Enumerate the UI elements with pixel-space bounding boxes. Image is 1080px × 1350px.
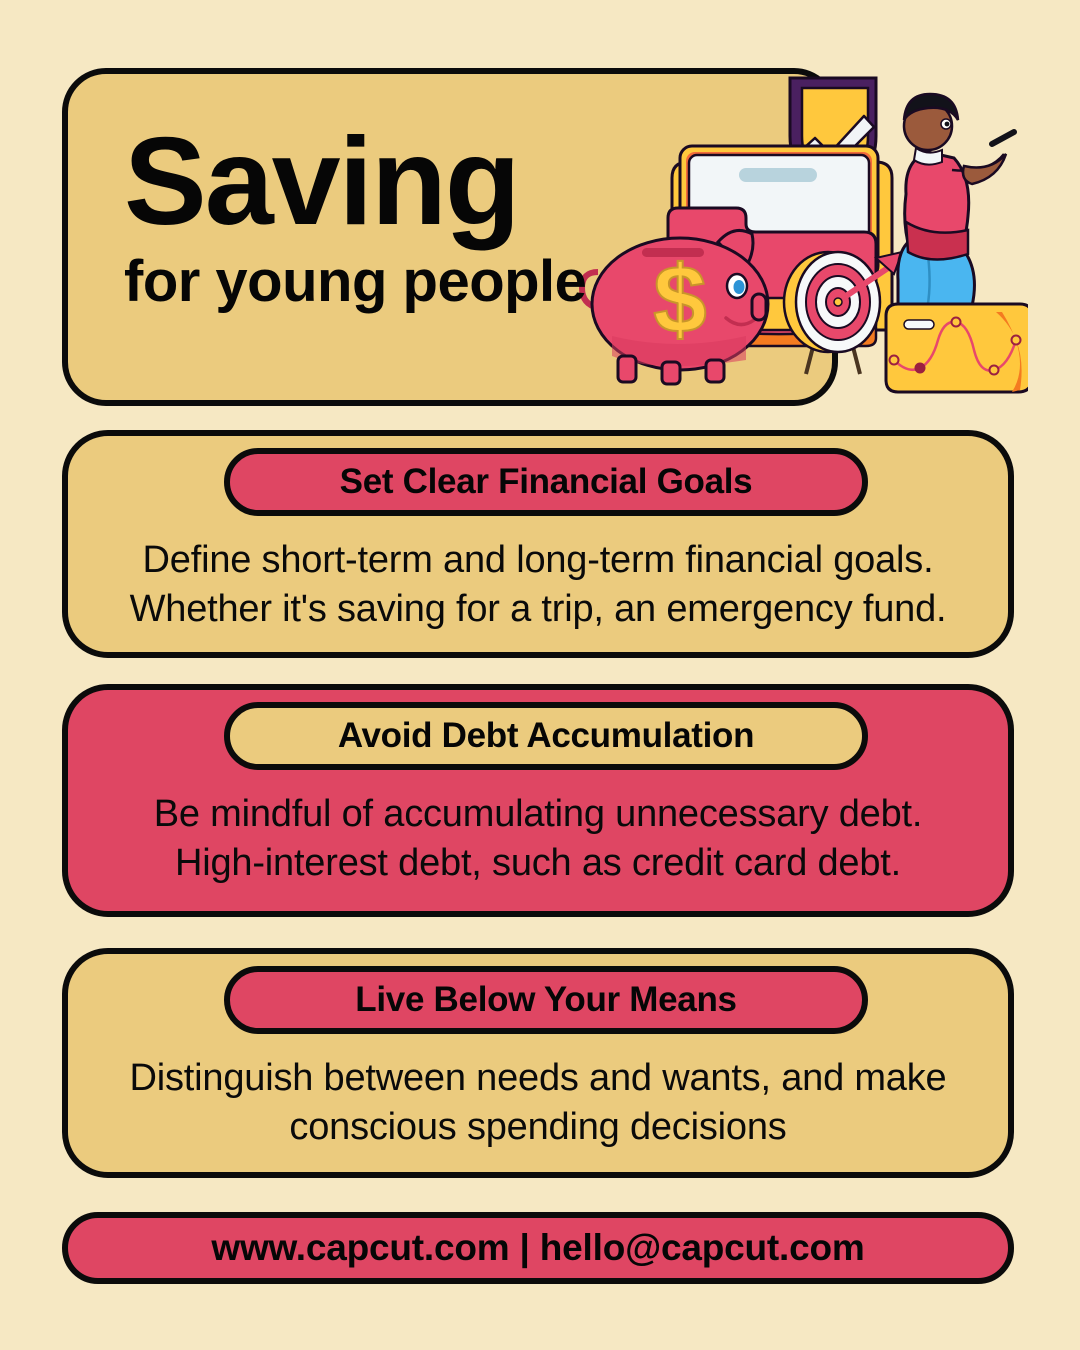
footer-contact-text: www.capcut.com | hello@capcut.com xyxy=(211,1227,864,1269)
footer-contact-bar[interactable]: www.capcut.com | hello@capcut.com xyxy=(62,1212,1014,1284)
title-main: Saving xyxy=(124,122,684,244)
tip-card-live-below-your-means: Live Below Your Means Distinguish betwee… xyxy=(62,948,1014,1178)
tip-pill-label-3: Live Below Your Means xyxy=(355,980,736,1020)
tip-card-set-clear-financial-goals: Set Clear Financial Goals Define short-t… xyxy=(62,430,1014,658)
tip-body-line-3a: Distinguish between needs and wants, and… xyxy=(102,1054,974,1103)
tip-body-line-1a: Define short-term and long-term financia… xyxy=(102,536,974,585)
tip-body-line-2a: Be mindful of accumulating unnecessary d… xyxy=(102,790,974,839)
tip-body-line-1b: Whether it's saving for a trip, an emerg… xyxy=(102,585,974,634)
tip-body-3: Distinguish between needs and wants, and… xyxy=(102,1054,974,1151)
tip-pill-3[interactable]: Live Below Your Means xyxy=(224,966,868,1034)
tip-pill-label-1: Set Clear Financial Goals xyxy=(340,462,753,502)
infographic-poster: Saving for young people xyxy=(0,0,1080,1350)
tip-card-avoid-debt-accumulation: Avoid Debt Accumulation Be mindful of ac… xyxy=(62,684,1014,917)
tip-body-line-3b: conscious spending decisions xyxy=(102,1103,974,1152)
tip-pill-label-2: Avoid Debt Accumulation xyxy=(338,716,754,756)
page-title: Saving for young people xyxy=(124,122,684,312)
tip-body-2: Be mindful of accumulating unnecessary d… xyxy=(102,790,974,887)
title-subtitle: for young people xyxy=(124,252,684,313)
tip-pill-2[interactable]: Avoid Debt Accumulation xyxy=(224,702,868,770)
tip-body-1: Define short-term and long-term financia… xyxy=(102,536,974,633)
line-chart-card xyxy=(886,304,1028,392)
tip-pill-1[interactable]: Set Clear Financial Goals xyxy=(224,448,868,516)
person-with-phone xyxy=(898,94,1014,315)
tip-body-line-2b: High-interest debt, such as credit card … xyxy=(102,839,974,888)
